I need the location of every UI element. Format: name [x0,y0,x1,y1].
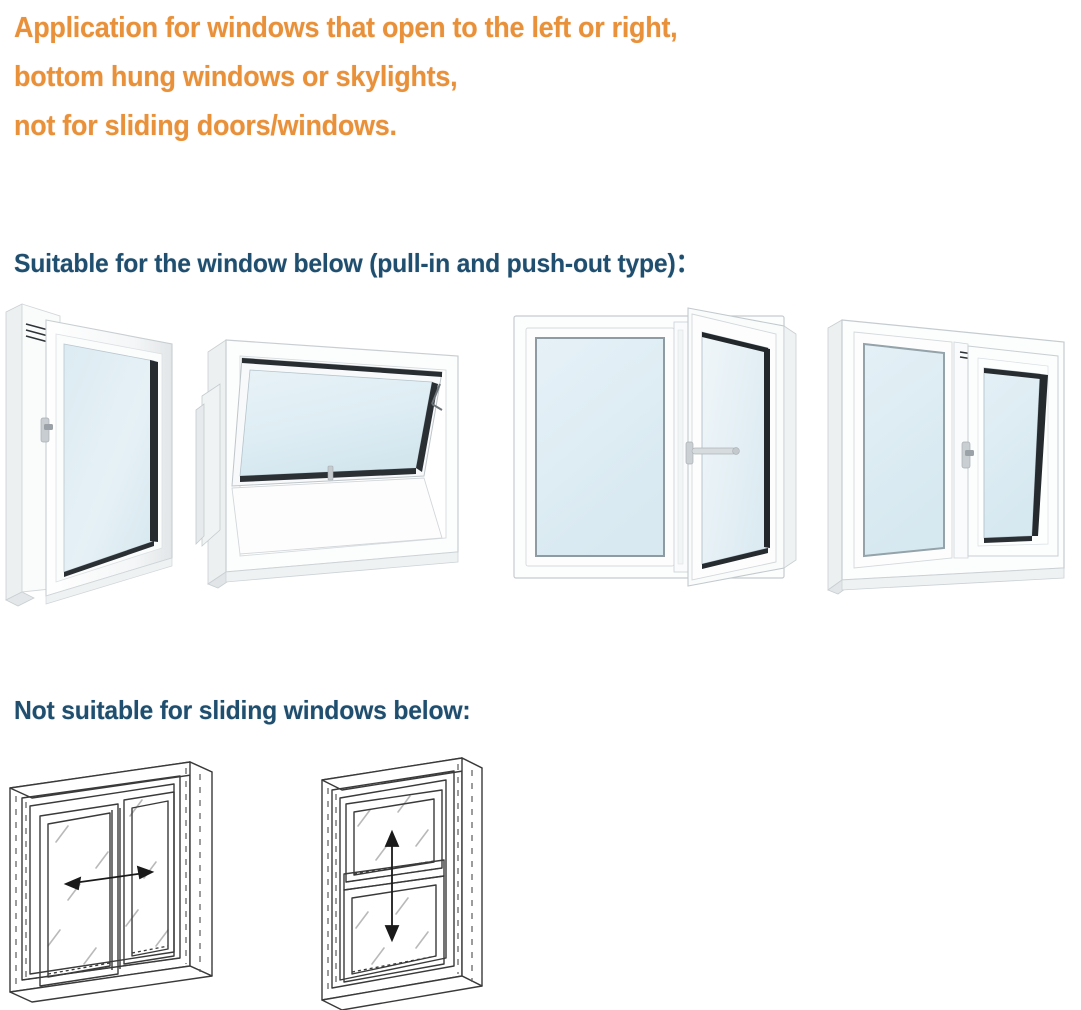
window-awning [190,300,490,610]
headline-line-2: bottom hung windows or skylights, [14,53,944,102]
headline-line-3: not for sliding doors/windows. [14,102,944,151]
suitable-windows-row [0,300,1081,610]
headline-line-1: Application for windows that open to the… [14,4,944,53]
not-suitable-section-heading: Not suitable for sliding windows below: [14,695,470,725]
window-tilt-turn [0,300,185,610]
headline-block: Application for windows that open to the… [14,4,1014,151]
window-tilt-double-pane [822,300,1081,610]
window-sliding-vertical [312,750,537,1010]
not-suitable-windows-row: X X [0,750,1081,1010]
infographic-page: Application for windows that open to the… [0,0,1081,1010]
window-casement-pair [500,300,805,610]
window-sliding-horizontal [4,750,289,1010]
sash-latch-icon [328,466,333,480]
suitable-section-heading: Suitable for the window below (pull-in a… [14,248,700,278]
